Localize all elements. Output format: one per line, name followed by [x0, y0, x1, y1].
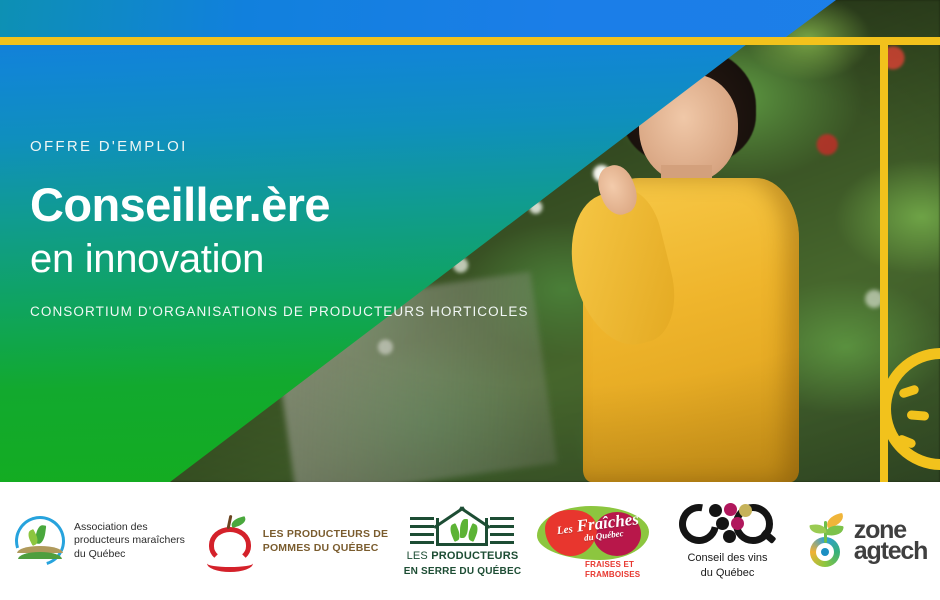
apmq-line3: du Québec	[74, 548, 125, 560]
greenhouse-icon	[410, 506, 514, 546]
pser-line2: EN SERRE DU QUÉBEC	[404, 566, 522, 577]
apmq-wordmark: Association des producteurs maraîchers d…	[74, 521, 185, 561]
hero-banner: OFFRE D'EMPLOI Conseiller.ère en innovat…	[0, 0, 940, 482]
apmq-line1: Association des	[74, 521, 148, 533]
ring-dash	[896, 434, 917, 449]
eyebrow-label: OFFRE D'EMPLOI	[30, 138, 550, 155]
fraiches-caption2: FRAMBOISES	[585, 570, 640, 579]
logo-producteurs-en-serre[interactable]: LES PRODUCTEURS EN SERRE DU QUÉBEC	[395, 482, 530, 600]
ring-dash	[898, 384, 920, 399]
fraiches-caption1: FRAISES ET	[585, 560, 634, 569]
pser-line1-light: LES	[407, 550, 432, 562]
pser-line1: LES PRODUCTEURS	[407, 550, 519, 562]
zone-agtech-wordmark: zone agtech	[854, 520, 927, 563]
page-subtitle: en innovation	[30, 238, 550, 280]
lpq-wordmark: LES PRODUCTEURS DE POMMES DU QUÉBEC	[263, 527, 389, 555]
cvq-line1: Conseil des vins	[687, 552, 767, 564]
lpq-line1: LES PRODUCTEURS DE	[263, 528, 389, 540]
logo-conseil-des-vins[interactable]: Conseil des vins du Québec	[660, 482, 795, 600]
headline-block: OFFRE D'EMPLOI Conseiller.ère en innovat…	[30, 138, 550, 321]
partner-logo-bar: Association des producteurs maraîchers d…	[0, 482, 940, 600]
zone-line2: agtech	[854, 537, 927, 565]
apmq-line2: producteurs maraîchers	[74, 534, 185, 546]
logo-zone-agtech[interactable]: zone agtech	[795, 482, 940, 600]
berry-badge-icon: Les Fraîches du Québec FRAISES ET FRAMBO…	[535, 504, 655, 578]
apmq-leaf-circle-icon	[15, 516, 65, 566]
page-title: Conseiller.ère	[30, 181, 550, 228]
fraiches-caption: FRAISES ET FRAMBOISES	[585, 560, 640, 579]
yellow-vertical-rule	[880, 37, 888, 482]
cvq-wordmark: Conseil des vins du Québec	[687, 551, 767, 580]
ring-dash	[907, 410, 930, 421]
fraiches-pre: Les	[556, 523, 573, 537]
lpq-line2: POMMES DU QUÉBEC	[263, 542, 379, 554]
logo-apmq[interactable]: Association des producteurs maraîchers d…	[0, 482, 200, 600]
yellow-horizontal-rule	[0, 37, 940, 45]
cvq-grape-monogram-icon	[679, 502, 777, 546]
logo-pommes-du-quebec[interactable]: LES PRODUCTEURS DE POMMES DU QUÉBEC	[200, 482, 395, 600]
sprout-circle-icon	[808, 515, 848, 567]
cvq-line2: du Québec	[701, 567, 755, 579]
apple-icon	[207, 515, 253, 567]
organisation-description: CONSORTIUM D'ORGANISATIONS DE PRODUCTEUR…	[30, 302, 550, 321]
logo-les-fraiches[interactable]: Les Fraîches du Québec FRAISES ET FRAMBO…	[530, 482, 660, 600]
job-offer-poster: OFFRE D'EMPLOI Conseiller.ère en innovat…	[0, 0, 940, 600]
pser-line1-bold: PRODUCTEURS	[431, 550, 518, 562]
